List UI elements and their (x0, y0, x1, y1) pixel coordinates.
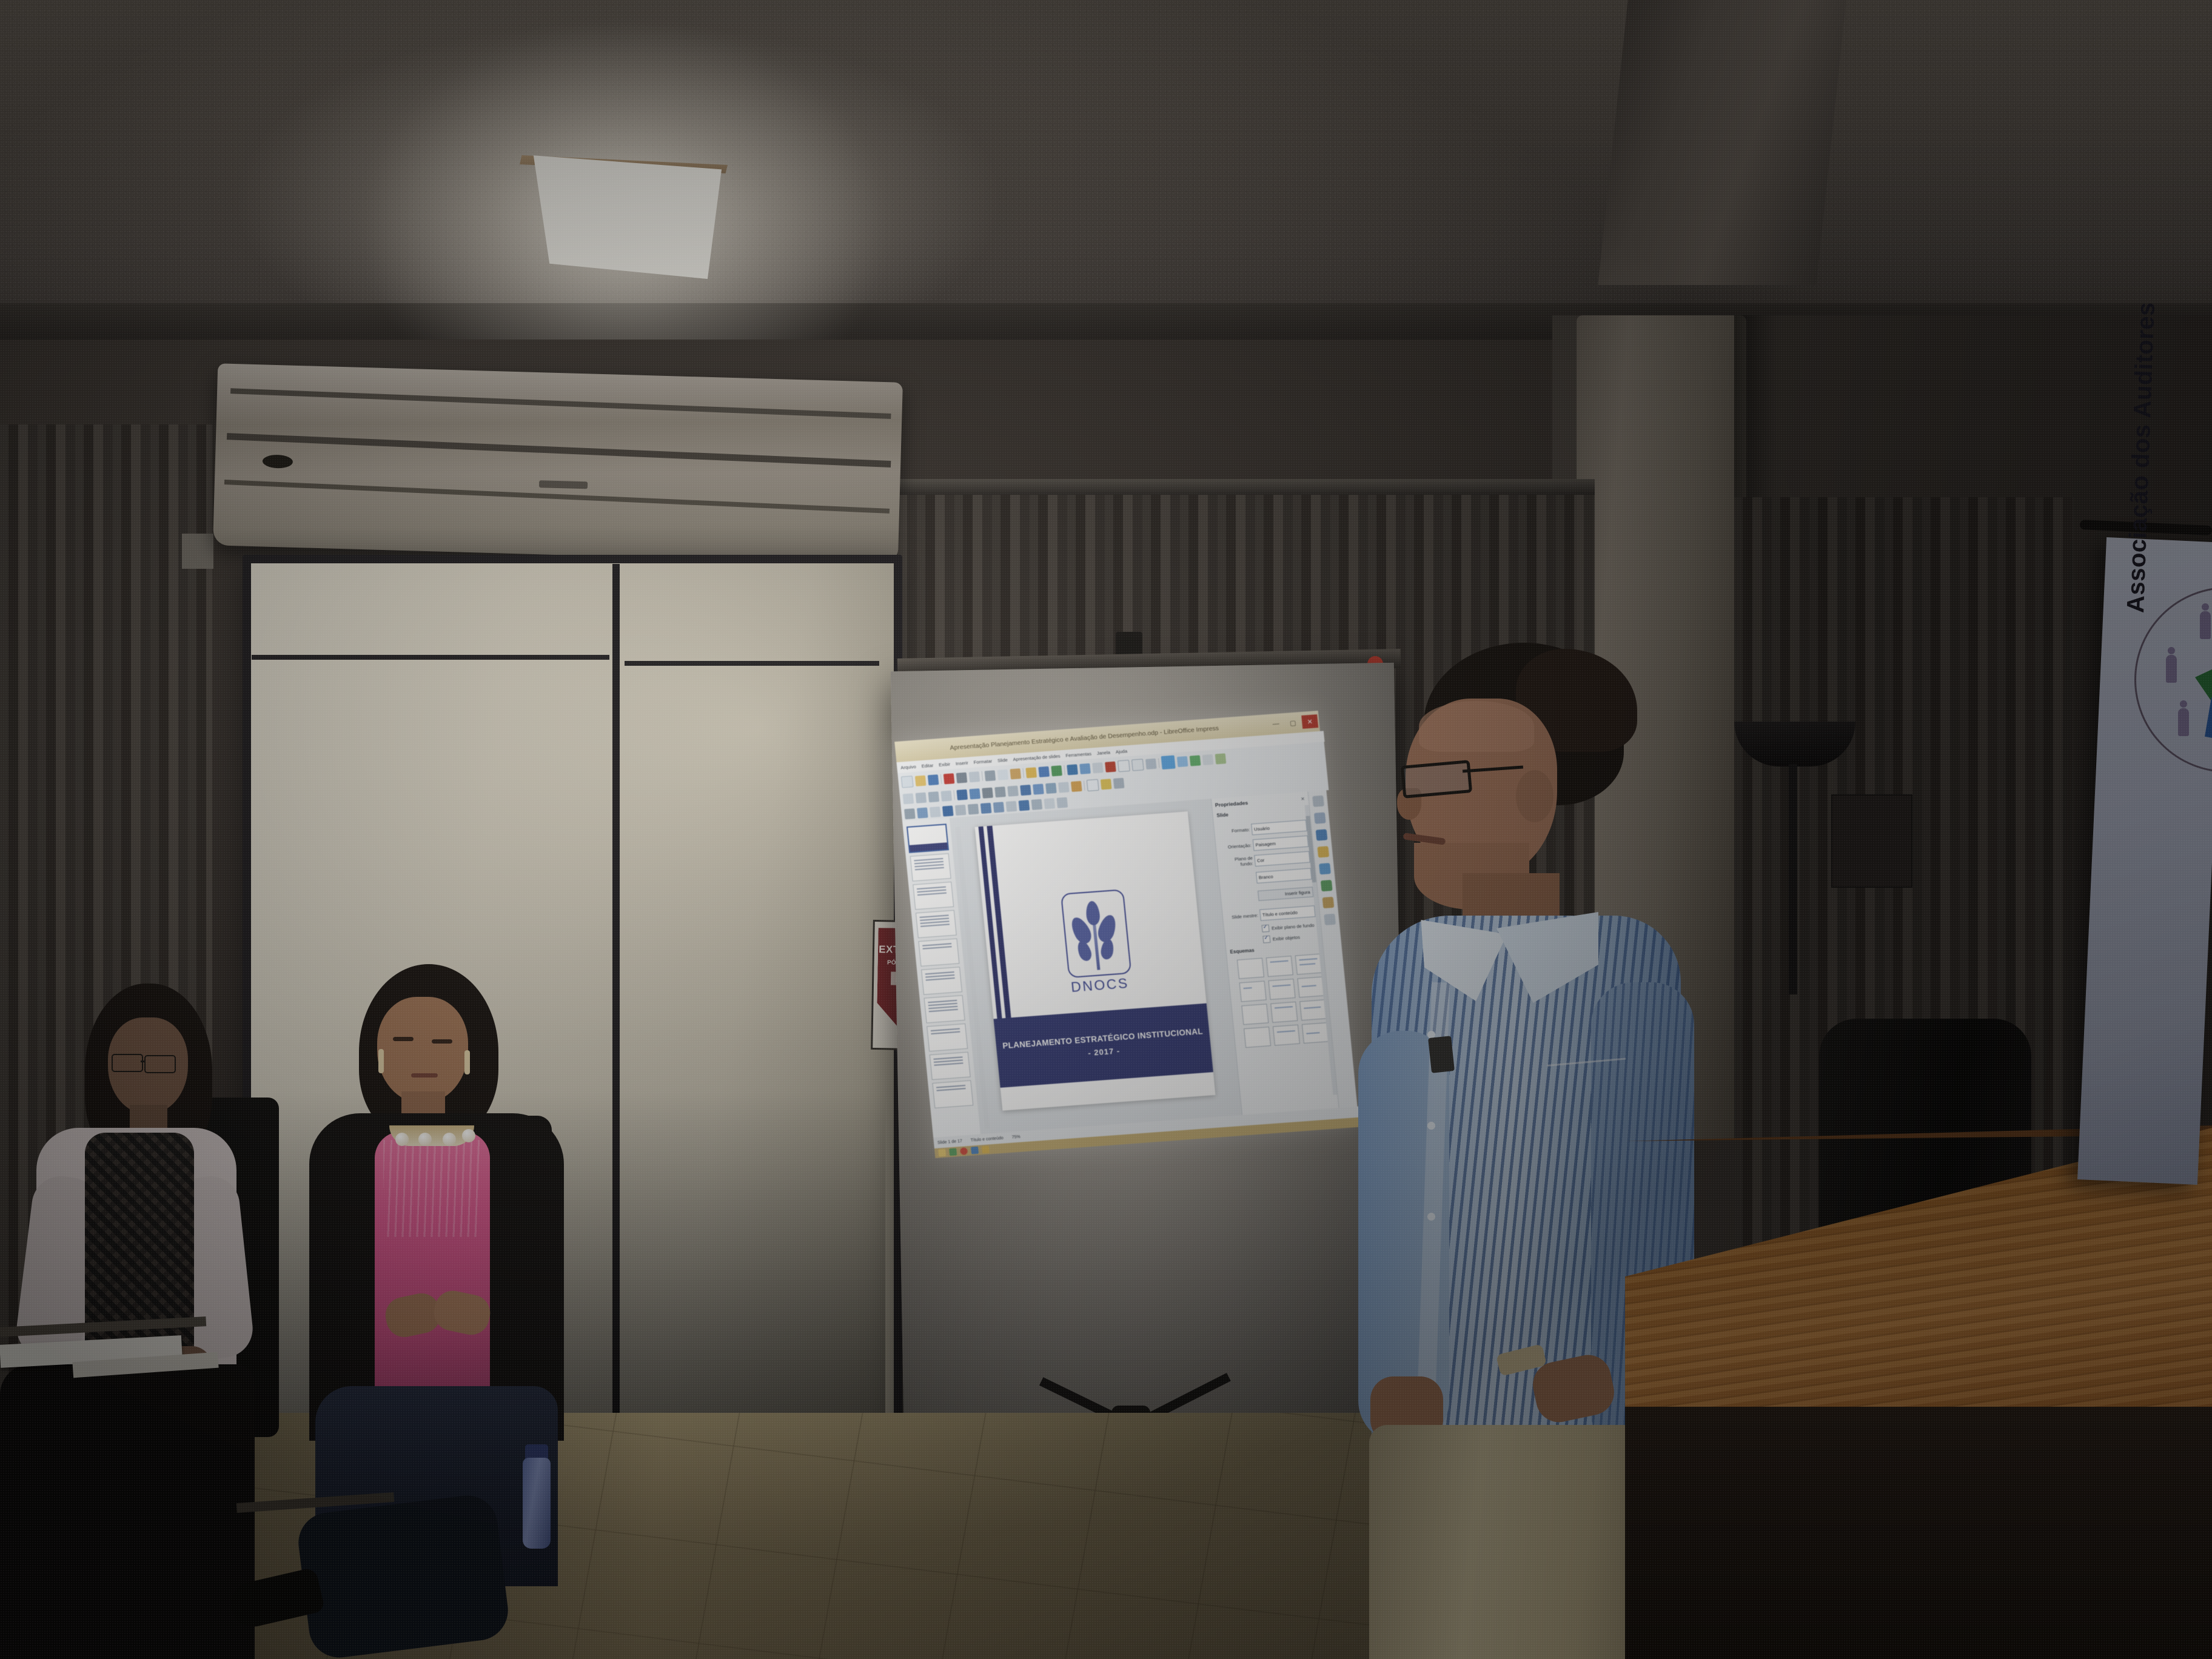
shadow-icon[interactable] (942, 805, 954, 816)
banner-figure-icon (2178, 708, 2189, 736)
line-style-icon[interactable] (930, 806, 941, 817)
menu-formatar[interactable]: Formatar (973, 758, 992, 765)
floor-lamp-pole (1789, 764, 1797, 994)
sidebar-section-layouts[interactable]: Esquemas (1230, 943, 1315, 954)
layout-option-vertical[interactable] (1302, 1022, 1329, 1044)
pearl-bead (418, 1133, 432, 1146)
slide-thumbnail-3[interactable] (913, 882, 954, 910)
earring-left (378, 1049, 384, 1073)
layout-option-six-content[interactable] (1273, 1025, 1300, 1046)
arrow-icon[interactable] (982, 787, 993, 798)
forehead (1419, 701, 1534, 752)
menu-exibir[interactable]: Exibir (939, 761, 951, 767)
rectangle-icon[interactable] (956, 789, 968, 800)
layout-option-picture[interactable] (1241, 1004, 1269, 1025)
minimize-button[interactable]: — (1267, 717, 1284, 731)
display-views-icon[interactable] (1215, 753, 1227, 764)
checkbox-label-plano-fundo: Exibir plano de fundo (1272, 922, 1315, 931)
snap-guides-icon[interactable] (928, 791, 939, 802)
menu-apresentacao[interactable]: Apresentação de slides (1013, 753, 1061, 762)
eye-right (432, 1039, 452, 1044)
menu-inserir[interactable]: Inserir (955, 760, 968, 766)
fontwork-icon[interactable] (1101, 779, 1112, 789)
checkbox-icon[interactable] (1262, 925, 1270, 933)
menu-arquivo[interactable]: Arquivo (900, 763, 916, 770)
slide-thumbnail-2[interactable] (910, 853, 951, 881)
thumbnail-lines (933, 1056, 963, 1067)
cabinet-door-line (625, 661, 879, 666)
dnocs-logo: DNOCS (1050, 888, 1142, 1004)
sidebar-title: Propriedades (1215, 796, 1298, 808)
layout-option-centered[interactable] (1297, 976, 1324, 997)
filter-icon[interactable] (1044, 798, 1055, 809)
close-button[interactable]: ✕ (1301, 714, 1318, 729)
start-from-first-slide-icon[interactable] (1161, 756, 1176, 770)
new-icon[interactable] (901, 776, 914, 788)
close-icon[interactable]: ✕ (1301, 796, 1305, 801)
slide-layout-icon[interactable] (1202, 754, 1214, 765)
connector-icon[interactable] (1007, 785, 1019, 796)
clip-on-microphone-icon (1428, 1036, 1455, 1073)
layout-option-comparison[interactable] (1269, 979, 1296, 1000)
glue-points-icon[interactable] (1031, 799, 1043, 809)
slide-thumbnail-10[interactable] (932, 1080, 973, 1108)
animation-icon[interactable] (1322, 897, 1335, 908)
thumbnail-lines (922, 943, 952, 951)
ceiling-beam (1598, 0, 1846, 285)
value-slide-mestre[interactable]: Título e conteúdo (1259, 905, 1316, 921)
toolbar-separator (1022, 768, 1024, 778)
top-folds (383, 1140, 480, 1237)
ellipse-icon[interactable] (969, 788, 980, 799)
thumbnail-lines (917, 886, 947, 897)
new-slide-icon[interactable] (1190, 755, 1201, 766)
pearl-bead (443, 1133, 456, 1146)
fill-color-icon[interactable] (917, 807, 928, 818)
header-footer-icon[interactable] (1131, 759, 1144, 771)
paste-icon[interactable] (1010, 768, 1021, 779)
background-color-swatch-value[interactable]: Branco (1256, 868, 1312, 883)
slide-thumbnail-8[interactable] (927, 1024, 968, 1051)
files-icon[interactable] (938, 1149, 946, 1157)
slide-thumbnail-7[interactable] (924, 995, 965, 1023)
table-front-panel (1625, 1407, 2212, 1659)
table-icon[interactable] (1092, 762, 1104, 773)
chart-icon[interactable] (1079, 763, 1091, 774)
start-from-current-slide-icon[interactable] (1177, 756, 1188, 766)
slide-thumbnail-1[interactable] (907, 823, 949, 853)
label-formato: Formato: (1218, 826, 1250, 834)
basic-shapes-icon[interactable] (1020, 785, 1031, 796)
master-name-status: Título e conteúdo (970, 1136, 1004, 1142)
slide-title-band: PLANEJAMENTO ESTRATÉGICO INSTITUCIONAL -… (994, 1004, 1213, 1088)
ceiling-light-fixture (521, 152, 722, 291)
cut-icon[interactable] (985, 770, 996, 781)
toolbar-separator (1158, 758, 1160, 768)
menu-janela[interactable]: Janela (1096, 749, 1110, 756)
master-slide-icon[interactable] (903, 793, 914, 804)
glasses-bridge (141, 1061, 146, 1062)
curtain-rail (879, 479, 1595, 495)
field-icon[interactable] (1145, 758, 1157, 769)
zoom-icon[interactable] (1056, 797, 1068, 808)
current-slide[interactable]: DNOCS PLANEJAMENTO ESTRATÉGICO INSTITUCI… (975, 811, 1216, 1111)
value-plano-fundo[interactable]: Cor (1254, 851, 1310, 866)
block-arrows-icon[interactable] (1045, 782, 1057, 793)
layout-option-four-content[interactable] (1244, 1027, 1271, 1048)
slide-thumbnail-6[interactable] (921, 967, 962, 994)
symbol-shapes-icon[interactable] (1033, 783, 1044, 794)
cabinet-door-line (252, 655, 609, 660)
toolbar-separator (1084, 781, 1085, 791)
menu-editar[interactable]: Editar (921, 762, 933, 768)
layout-option-content[interactable] (1295, 954, 1322, 975)
checkbox-label-objetos: Exibir objetos (1272, 934, 1300, 942)
crop-icon[interactable] (955, 804, 967, 815)
undo-icon[interactable] (1038, 766, 1050, 777)
grid-icon[interactable] (916, 792, 927, 803)
points-icon[interactable] (1019, 800, 1030, 811)
meeting-room-scene: EXTINTOR PÓ QUÍMICO ABC 197 Apresentação… (0, 0, 2212, 1659)
pearl-bead (395, 1133, 409, 1146)
chrome-icon[interactable] (960, 1147, 968, 1155)
slide-thumbnail-5[interactable] (918, 939, 959, 967)
layout-option-three-content[interactable] (1299, 999, 1327, 1021)
impress-icon[interactable] (982, 1145, 990, 1153)
toolbar-separator (1064, 765, 1065, 775)
person-woman-left (0, 976, 255, 1659)
mouth (411, 1073, 438, 1078)
sidebar-settings-icon[interactable] (1312, 796, 1324, 807)
arrange-icon[interactable] (993, 802, 1005, 813)
image-icon[interactable] (1067, 764, 1078, 775)
redo-icon[interactable] (1051, 765, 1062, 776)
ceiling (0, 0, 2212, 340)
glasses-lens (1401, 760, 1472, 799)
spacer (1225, 896, 1256, 898)
thumbnail-lines (928, 1000, 958, 1014)
logo-wordmark: DNOCS (1058, 974, 1142, 997)
face (377, 997, 468, 1104)
office-icon[interactable] (949, 1148, 957, 1156)
print-icon[interactable] (956, 772, 968, 783)
impress-work-area: DNOCS PLANEJAMENTO ESTRATÉGICO INSTITUCI… (902, 790, 1356, 1138)
ac-vent-slit (230, 388, 891, 419)
slide-thumbnail-9[interactable] (930, 1052, 971, 1080)
master-slides-icon[interactable] (1321, 880, 1333, 891)
distribute-icon[interactable] (1006, 800, 1017, 811)
thumbnail-title-band (910, 842, 948, 851)
field-row-background-color[interactable]: Branco (1222, 866, 1312, 886)
toolbar-separator (982, 771, 984, 781)
ac-sensor-icon (263, 454, 293, 468)
align-icon[interactable] (980, 802, 992, 813)
export-pdf-icon[interactable] (943, 773, 955, 784)
person-woman-middle (243, 958, 558, 1659)
ac-bracket-left (182, 534, 213, 569)
field-row-insert-image[interactable]: Inserir figura (1224, 885, 1314, 905)
glasses-lens-left (112, 1054, 143, 1072)
special-character-icon[interactable] (1105, 761, 1116, 772)
thumbnail-lines (936, 1085, 966, 1093)
ceiling-texture (0, 0, 2212, 340)
ear (1516, 770, 1553, 822)
thumbnail-lines (920, 914, 950, 928)
ac-brand-logo (539, 480, 588, 489)
banner-figure-icon (2200, 611, 2211, 639)
toolbar-separator (953, 790, 955, 800)
clone-formatting-icon[interactable] (1025, 767, 1037, 778)
ac-vent-slit (227, 433, 891, 468)
crossed-leg (295, 1492, 512, 1659)
value-formato[interactable]: Usuário (1251, 819, 1307, 835)
slide-counter: Slide 1 de 17 (937, 1139, 962, 1145)
pearl-bead (462, 1129, 475, 1142)
shirt-button (1427, 1122, 1435, 1130)
eye-left (393, 1037, 414, 1041)
writer-icon[interactable] (971, 1147, 979, 1155)
navigator-icon[interactable] (1319, 863, 1331, 874)
toolbar-separator (940, 774, 942, 784)
copy-icon[interactable] (997, 769, 1008, 780)
label-slide-mestre: Slide mestre: (1227, 913, 1259, 920)
air-conditioner-unit (213, 363, 903, 564)
thumbnail-lines (914, 858, 944, 872)
spacer (1223, 877, 1255, 880)
label-orientacao: Orientação: (1219, 842, 1252, 850)
insert-image-button[interactable]: Inserir figura (1258, 886, 1313, 901)
stars-icon[interactable] (1058, 782, 1070, 793)
slide-title-line2: - 2017 - (1088, 1046, 1121, 1057)
menu-ajuda[interactable]: Ajuda (1115, 748, 1127, 754)
display-grid-icon[interactable] (940, 790, 952, 801)
textbox-icon[interactable] (1118, 760, 1130, 772)
zoom-level[interactable]: 75% (1011, 1134, 1021, 1139)
glasses-lens-right (144, 1055, 176, 1073)
thumbnail-lines (925, 971, 955, 982)
trousers (0, 1364, 255, 1659)
layout-option-two-content[interactable] (1239, 981, 1267, 1002)
rotate-icon[interactable] (968, 803, 979, 814)
shirt-button (1427, 1213, 1435, 1221)
earring-right (464, 1050, 470, 1074)
flowchart-icon[interactable] (1071, 780, 1082, 791)
menu-ferramentas[interactable]: Ferramentas (1065, 751, 1091, 758)
gallery-icon[interactable] (1317, 846, 1329, 857)
light-panel-icon (521, 152, 722, 279)
shirt-pocket (1547, 1058, 1631, 1133)
styles-icon[interactable] (1316, 829, 1328, 840)
thumbnail-lines (931, 1028, 960, 1036)
menu-slide[interactable]: Slide (997, 757, 1008, 763)
print-preview-icon[interactable] (969, 771, 980, 782)
banner-figure-icon (2166, 655, 2177, 683)
layout-option-title-only[interactable] (1270, 1002, 1298, 1023)
open-icon[interactable] (915, 775, 927, 786)
line-color-icon[interactable] (904, 808, 916, 819)
maximize-button[interactable]: ▢ (1284, 716, 1301, 730)
label-plano-fundo: Plano de fundo: (1221, 856, 1253, 869)
slide-thumbnail-4[interactable] (916, 910, 957, 938)
3d-objects-icon[interactable] (1113, 777, 1125, 788)
libreoffice-impress-window[interactable]: Apresentação Planejamento Estratégico e … (894, 711, 1359, 1158)
layout-option-blank[interactable] (1237, 958, 1264, 979)
checkbox-icon[interactable] (1262, 936, 1270, 943)
save-icon[interactable] (928, 774, 939, 785)
curve-icon[interactable] (994, 786, 1006, 797)
wall-panel (1831, 794, 1912, 888)
layout-option-title[interactable] (1266, 956, 1293, 977)
value-orientacao[interactable]: Paisagem (1253, 835, 1309, 851)
properties-icon[interactable] (1314, 813, 1326, 824)
water-bottle (523, 1458, 551, 1549)
callout-icon[interactable] (1087, 779, 1099, 791)
